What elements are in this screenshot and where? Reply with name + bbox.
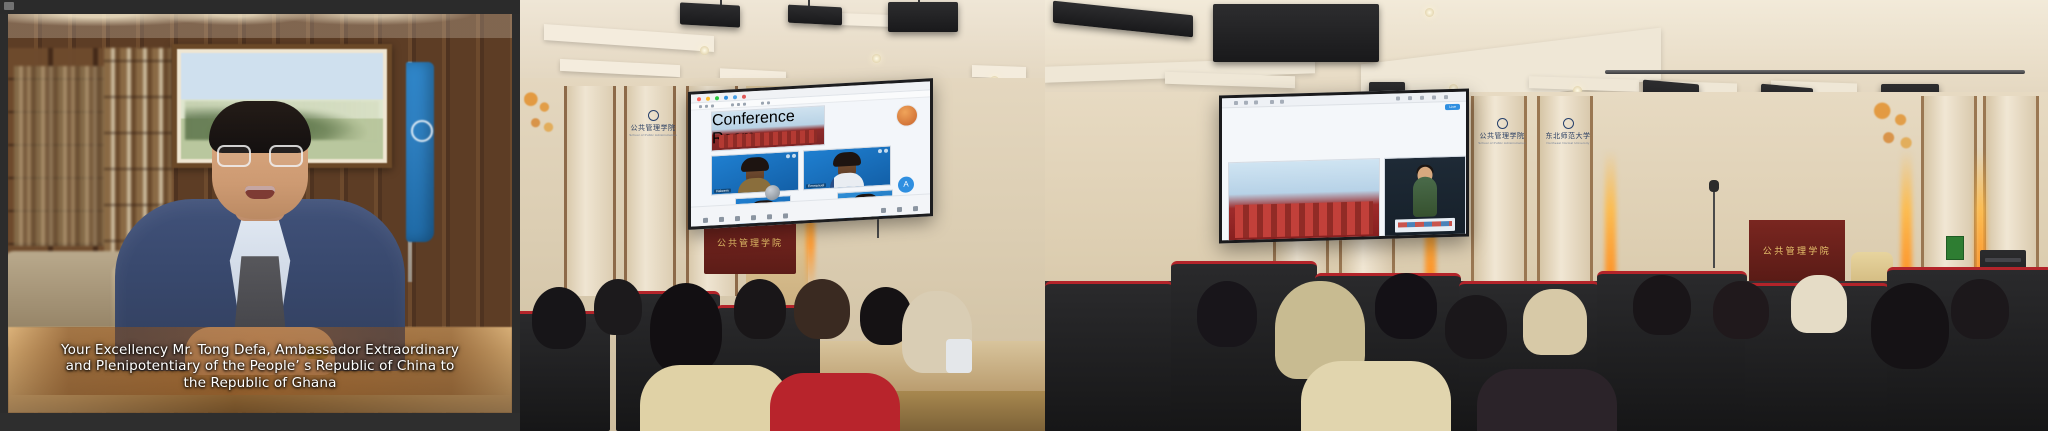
wall-sign-cn: 东北师范大学 xyxy=(1542,131,1594,141)
video-tile-room[interactable]: Conference Room xyxy=(711,105,825,151)
video-tile-room[interactable] xyxy=(1228,158,1380,242)
seat-row xyxy=(1045,281,1173,431)
photo-strip: Your Excellency Mr. Tong Defa, Ambassado… xyxy=(0,0,2048,431)
audience-shawl xyxy=(640,365,790,431)
wall-sign-nenu-2: 东北师范大学 Northeast Normal University xyxy=(1542,118,1594,145)
wall-sign-spa-en: School of Public Administration xyxy=(627,133,679,137)
audience-head-hijab xyxy=(1791,275,1847,333)
minimize-icon[interactable] xyxy=(706,96,710,100)
ceiling-speaker-left xyxy=(1213,4,1379,62)
exit-sign-icon xyxy=(1946,236,1964,260)
video-tile-grid: Conference Room Hakeem Emmanuel xyxy=(697,100,924,205)
audience-head-hijab xyxy=(1523,289,1587,355)
tile-icons xyxy=(786,154,796,159)
ceiling-slab-5 xyxy=(972,65,1026,79)
wall-sign-en: Northeast Normal University xyxy=(1542,141,1594,145)
nenu-logo-icon xyxy=(1563,118,1574,129)
caption-line-1: Your Excellency Mr. Tong Defa, Ambassado… xyxy=(12,342,508,359)
panel-ambassador-video: Your Excellency Mr. Tong Defa, Ambassado… xyxy=(0,0,520,431)
video-tile-presenter[interactable] xyxy=(1384,156,1466,238)
audience-head xyxy=(734,279,786,339)
audience-head xyxy=(1633,275,1691,335)
projection-screen[interactable]: Conference Room Hakeem Emmanuel xyxy=(688,78,933,230)
blue-flag xyxy=(406,62,434,242)
caption-line-3: the Republic of Ghana xyxy=(12,375,508,392)
projection-screen[interactable]: Live xyxy=(1219,89,1469,244)
microphone-stand xyxy=(1713,188,1715,268)
wall-sign-cn: 公共管理学院 xyxy=(1476,131,1528,141)
audience-jacket xyxy=(1477,369,1617,431)
panel-lecture-hall-grid: 公共管理学院 School of Public Administration 东… xyxy=(520,0,1045,431)
subtitle-caption: Your Excellency Mr. Tong Defa, Ambassado… xyxy=(8,342,512,392)
wall-sign-spa-cn: 公共管理学院 xyxy=(627,123,679,133)
chat-icon[interactable] xyxy=(733,95,737,99)
audience-head xyxy=(1951,279,2009,339)
wall-sign-spa-2: 公共管理学院 School of Public Administration xyxy=(1476,118,1528,145)
tile-label: Conference Room xyxy=(712,108,795,148)
decorative-vine-2 xyxy=(1873,98,1919,162)
window-controls[interactable] xyxy=(697,94,746,101)
share-icon[interactable] xyxy=(724,95,728,99)
ceiling-speaker-3 xyxy=(888,2,958,32)
mouth xyxy=(245,186,275,199)
audience-head xyxy=(1197,281,1257,347)
audience-head xyxy=(1375,273,1437,339)
lectern-label: 公共管理学院 xyxy=(1749,244,1845,257)
wall-pillar-2: 公共管理学院 School of Public Administration xyxy=(624,86,676,296)
letterbox-top xyxy=(0,0,520,14)
video-tile-avatar[interactable] xyxy=(896,104,918,127)
audience-jacket xyxy=(1301,361,1451,431)
caption-line-2: and Plenipotentiary of the People’ s Rep… xyxy=(12,358,508,375)
audience-seat-back xyxy=(770,373,900,431)
downlight-1 xyxy=(700,46,709,55)
spa-logo-icon xyxy=(648,110,659,121)
audience-head xyxy=(1713,281,1769,339)
presenter-body xyxy=(1413,176,1437,217)
close-icon[interactable] xyxy=(697,97,701,101)
audience-head xyxy=(532,287,586,349)
presenter-banner xyxy=(1395,218,1455,233)
spa-logo-icon xyxy=(1497,118,1508,129)
wall-sign-en: School of Public Administration xyxy=(1476,141,1528,145)
maximize-icon[interactable] xyxy=(715,96,719,100)
decorative-vine xyxy=(524,88,558,144)
letterbox-bottom xyxy=(0,413,520,431)
audience-head xyxy=(1871,283,1949,369)
tile-icons xyxy=(878,149,888,154)
audience-head xyxy=(1445,295,1507,359)
video-tile-emmanuel[interactable]: Emmanuel xyxy=(803,145,891,190)
wall-pillar-1 xyxy=(564,86,616,296)
ceiling-speaker-1 xyxy=(680,2,740,27)
record-icon[interactable] xyxy=(742,94,746,98)
app-titlebar[interactable] xyxy=(1222,92,1466,109)
panel-wide-hall: 东北师范大学 Northeast Normal University 公共管理学… xyxy=(1045,0,2048,431)
video-tile-hakeem[interactable]: Hakeem xyxy=(711,151,799,196)
wall-sign-spa: 公共管理学院 School of Public Administration xyxy=(627,110,679,137)
lectern-label: 公共管理学院 xyxy=(704,236,796,249)
audience-head-scarf xyxy=(794,279,850,339)
ceiling-speaker-2 xyxy=(788,5,842,26)
video-frame: Your Excellency Mr. Tong Defa, Ambassado… xyxy=(8,14,512,413)
water-bottle xyxy=(946,339,972,373)
lighting-truss xyxy=(1605,70,2025,74)
downlight-2 xyxy=(872,54,881,63)
audience-head xyxy=(650,283,722,375)
audience-head xyxy=(594,279,642,335)
ceiling-spotlights xyxy=(8,14,512,54)
participant-body xyxy=(830,172,864,188)
live-chip: Live xyxy=(1445,104,1460,110)
eyeglasses-icon xyxy=(217,145,303,167)
tile-label: Emmanuel xyxy=(806,183,826,188)
tile-label: Hakeem xyxy=(714,188,731,193)
downlight-1 xyxy=(1425,8,1434,17)
recording-badge-icon xyxy=(4,2,14,10)
